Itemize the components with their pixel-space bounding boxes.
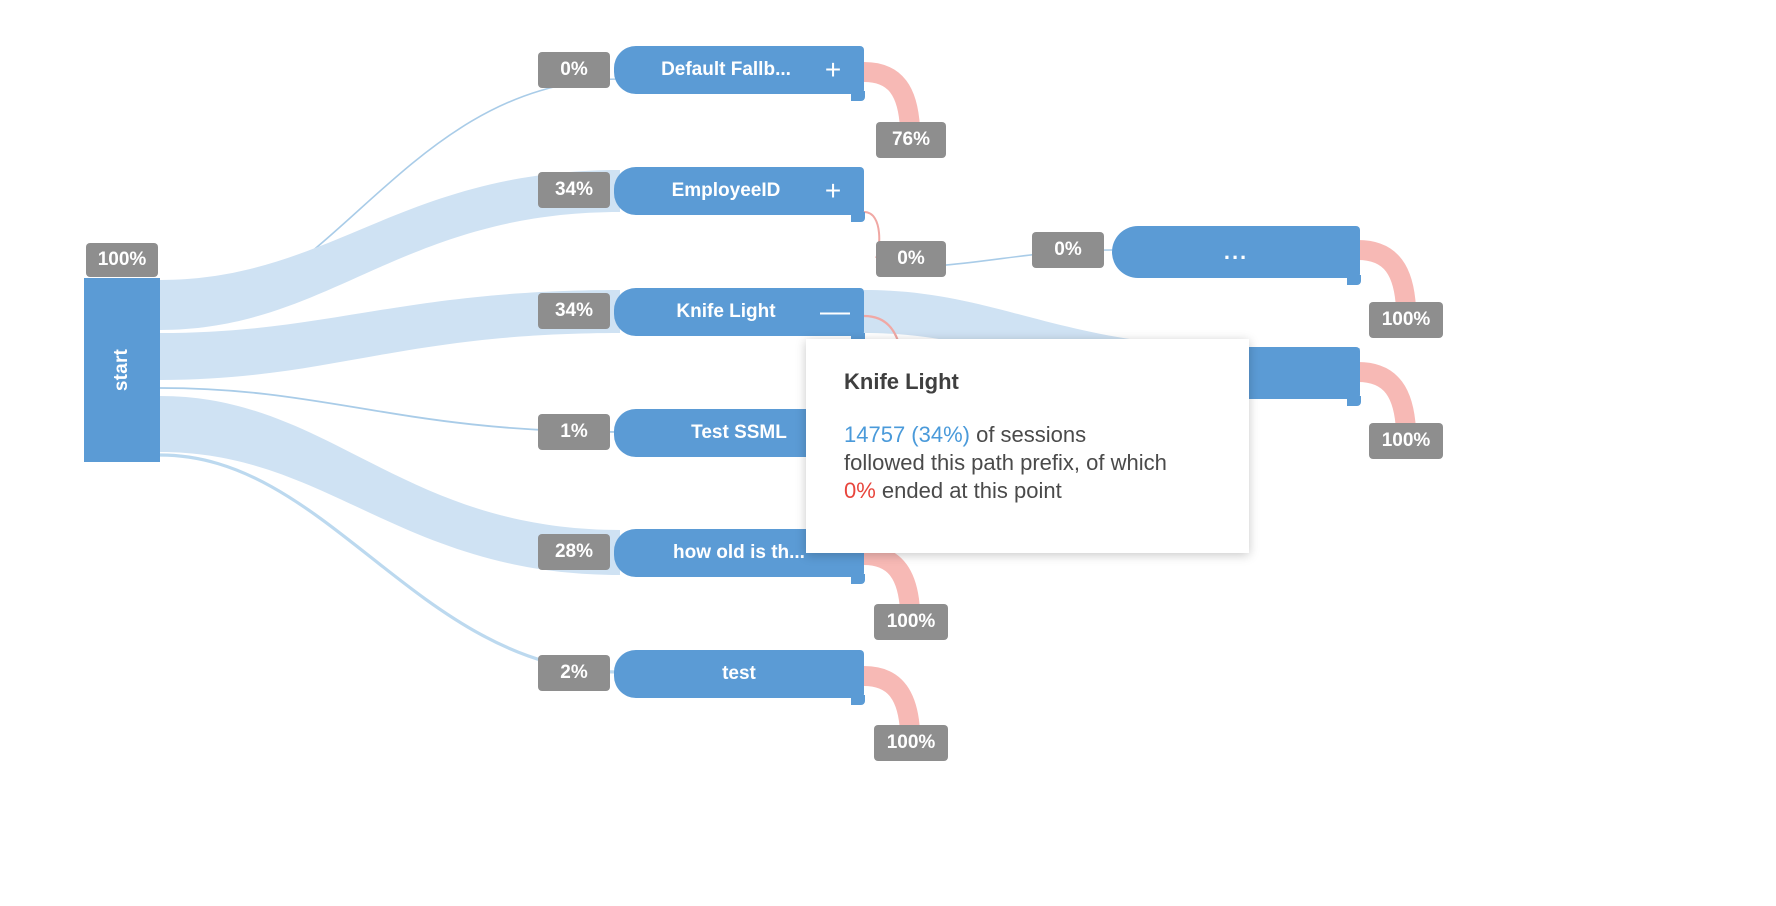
badge-test-in: 2% [538, 655, 610, 691]
tooltip-body: 14757 (34%) of sessions followed this pa… [844, 421, 1215, 505]
node-start-label: start [111, 349, 133, 391]
tooltip-count-percent: 14757 (34%) [844, 422, 970, 447]
badge-how-old-is-th-in: 28% [538, 534, 610, 570]
tooltip-end-percent: 0% [844, 478, 876, 503]
node-ellipsis-label: ... [1130, 239, 1342, 265]
node-notch [851, 574, 865, 584]
dropoff-test [864, 676, 910, 731]
node-notch [1347, 275, 1361, 285]
expand-plus-icon[interactable]: + [820, 56, 846, 84]
node-test[interactable]: test [614, 650, 864, 698]
badge-employee-id-dropoff: 0% [876, 241, 946, 277]
badge-right-lower-dropoff: 100% [1369, 423, 1443, 459]
collapse-minus-icon[interactable]: — [820, 297, 846, 327]
node-default-fallback-label: Default Fallb... [632, 59, 820, 81]
node-notch [851, 212, 865, 222]
badge-knife-light-in: 34% [538, 293, 610, 329]
badge-employee-id-in: 34% [538, 172, 610, 208]
node-tooltip: Knife Light 14757 (34%) of sessions foll… [806, 339, 1249, 553]
node-employee-id-label: EmployeeID [632, 180, 820, 202]
badge-start-100: 100% [86, 243, 158, 277]
node-notch [851, 695, 865, 705]
path-flow-diagram: start 100% 0% Default Fallb... + 76% 34%… [0, 0, 1776, 906]
node-notch [851, 91, 865, 101]
badge-mid-zero: 0% [1032, 232, 1104, 268]
tooltip-title: Knife Light [844, 369, 1215, 395]
badge-test-dropoff: 100% [874, 725, 948, 761]
node-test-label: test [632, 663, 846, 685]
badge-how-old-is-th-dropoff: 100% [874, 604, 948, 640]
dropoff-right-node [1358, 372, 1406, 430]
badge-ellipsis-dropoff: 100% [1369, 302, 1443, 338]
badge-default-fallback-dropoff: 76% [876, 122, 946, 158]
badge-default-fallback-in: 0% [538, 52, 610, 88]
node-knife-light-label: Knife Light [632, 301, 820, 323]
node-default-fallback[interactable]: Default Fallb... + [614, 46, 864, 94]
tooltip-line3-rest: ended at this point [876, 478, 1062, 503]
node-ellipsis[interactable]: ... [1112, 226, 1360, 278]
node-knife-light[interactable]: Knife Light — [614, 288, 864, 336]
badge-test-ssml-in: 1% [538, 414, 610, 450]
expand-plus-icon[interactable]: + [820, 177, 846, 205]
dropoff-default-fallback [864, 72, 910, 128]
tooltip-line1-rest: of sessions [970, 422, 1086, 447]
dropoff-ellipsis-node [1358, 250, 1406, 308]
node-employee-id[interactable]: EmployeeID + [614, 167, 864, 215]
tooltip-line2: followed this path prefix, of which [844, 450, 1167, 475]
dropoff-how-old-is-th [864, 555, 910, 610]
node-start[interactable]: start [84, 278, 160, 462]
node-notch [1347, 396, 1361, 406]
